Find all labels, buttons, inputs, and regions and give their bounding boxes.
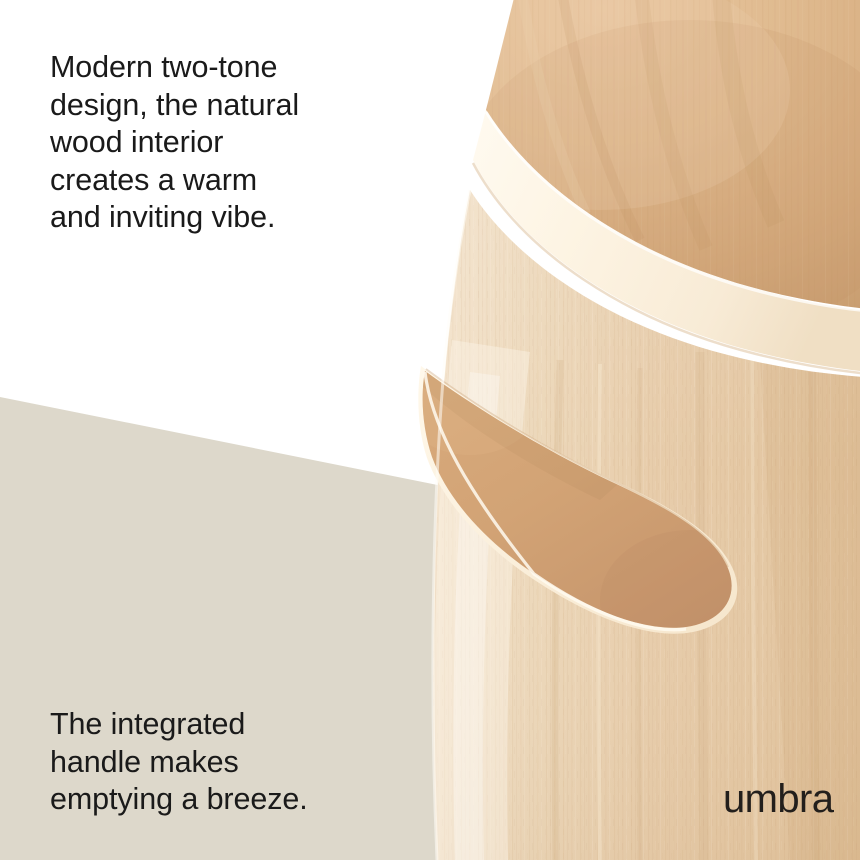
feature-text-top: Modern two-tone design, the natural wood… (50, 49, 380, 237)
feature-text-bottom: The integrated handle makes emptying a b… (50, 706, 390, 819)
product-feature-card: Modern two-tone design, the natural wood… (0, 0, 860, 860)
umbra-logo: umbra (723, 779, 833, 819)
